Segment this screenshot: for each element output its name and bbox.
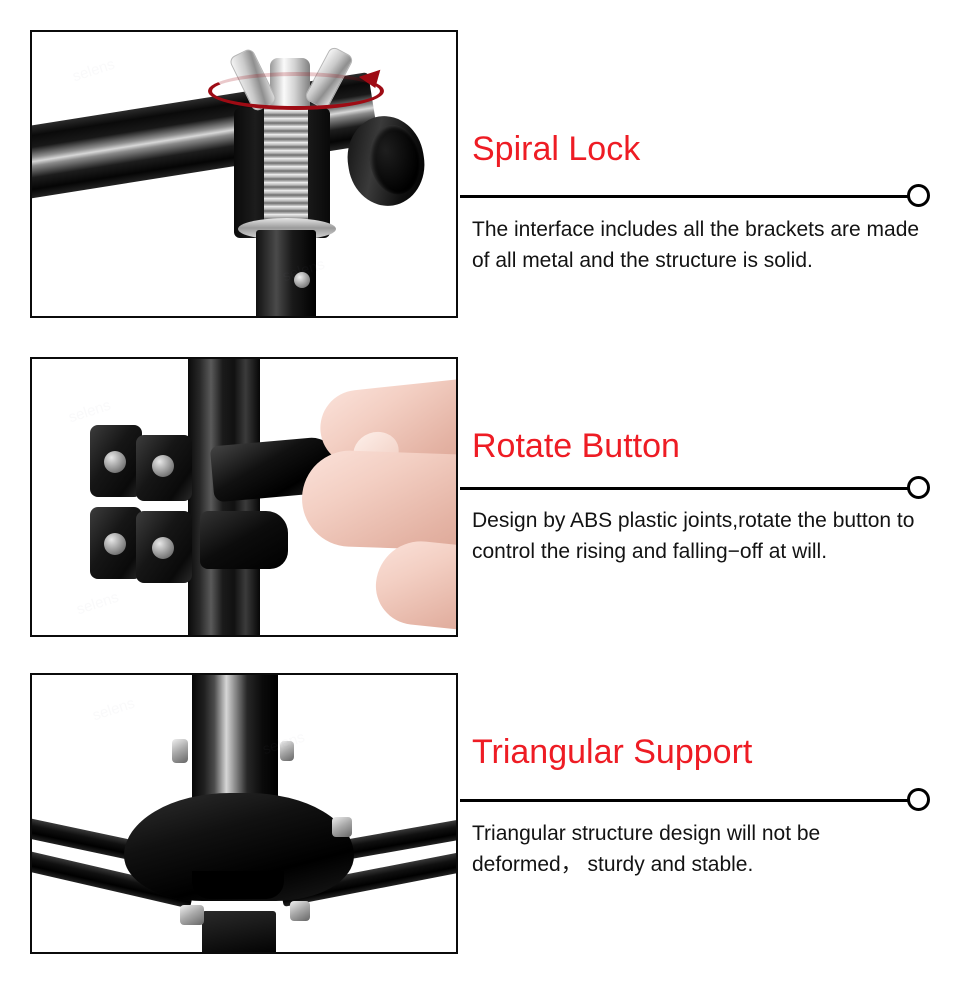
clamp-screw <box>104 451 126 473</box>
threaded-shaft <box>264 94 308 224</box>
feature-description: The interface includes all the brackets … <box>472 214 924 276</box>
feature-connector <box>460 184 930 208</box>
connector-line <box>460 195 910 198</box>
lower-post <box>256 230 316 316</box>
finger-middle <box>300 449 456 553</box>
hub-bolt <box>280 741 294 761</box>
feature-text-triangular-support: Triangular Support Triangular structure … <box>460 673 930 954</box>
feature-text-rotate-button: Rotate Button Design by ABS plastic join… <box>460 357 930 637</box>
clamp-screw <box>152 537 174 559</box>
clamp-screw <box>104 533 126 555</box>
product-photo-spiral-lock: selens selens <box>30 30 458 318</box>
feature-title: Triangular Support <box>472 733 752 771</box>
connector-circle-icon <box>907 476 930 499</box>
connector-line <box>460 487 910 490</box>
feature-block-spiral-lock: selens selens Spiral Lock The interface … <box>0 30 960 318</box>
connector-circle-icon <box>907 788 930 811</box>
clamp-screw <box>152 455 174 477</box>
hub-bolt <box>290 901 310 921</box>
watermark: selens <box>70 56 116 86</box>
feature-title: Rotate Button <box>472 427 680 465</box>
rotate-knob-lower <box>200 511 288 569</box>
watermark: selens <box>66 397 112 427</box>
product-feature-infographic: selens selens Spiral Lock The interface … <box>0 0 960 992</box>
hub-notch <box>192 871 284 899</box>
product-photo-triangular-support: selens selens <box>30 673 458 954</box>
photo-inner-rotate-button: selens selens <box>32 359 456 635</box>
rotation-arrow-icon <box>208 72 384 110</box>
finger-ring <box>372 537 456 635</box>
feature-title: Spiral Lock <box>472 130 640 168</box>
hub-bolt <box>180 905 204 925</box>
connector-circle-icon <box>907 184 930 207</box>
feature-connector <box>460 476 930 500</box>
connector-line <box>460 799 910 802</box>
feature-connector <box>460 788 930 812</box>
feature-block-triangular-support: selens selens Triangular Support Triangu… <box>0 673 960 954</box>
feature-block-rotate-button: selens selens Rotate Button Design by AB… <box>0 357 960 637</box>
watermark: selens <box>90 695 136 725</box>
product-photo-rotate-button: selens selens <box>30 357 458 637</box>
hand-grip-icon <box>292 359 456 635</box>
photo-inner-triangular-support: selens selens <box>32 675 456 952</box>
photo-inner-spiral-lock: selens selens <box>32 32 456 316</box>
watermark: selens <box>74 589 120 619</box>
feature-text-spiral-lock: Spiral Lock The interface includes all t… <box>460 30 930 318</box>
feature-description: Design by ABS plastic joints,rotate the … <box>472 505 924 567</box>
tripod-leg-center <box>202 911 276 952</box>
feature-description: Triangular structure design will not be … <box>472 818 924 880</box>
hub-bolt <box>172 739 188 763</box>
hub-bolt <box>332 817 352 837</box>
